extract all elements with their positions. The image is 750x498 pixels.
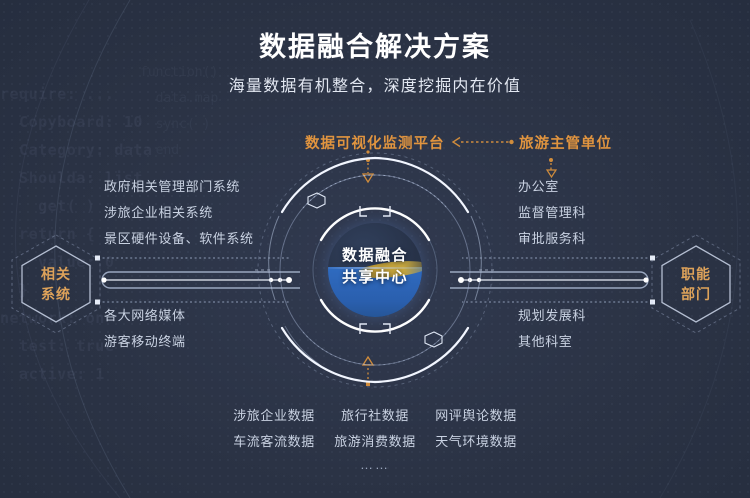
arrow-left-icon	[447, 134, 517, 150]
hexagon-left-label: 相关 系统	[8, 232, 104, 336]
left-top-list: 政府相关管理部门系统 涉旅企业相关系统 景区硬件设备、软件系统	[104, 174, 254, 252]
list-item: 涉旅企业相关系统	[104, 200, 254, 226]
list-item: 政府相关管理部门系统	[104, 174, 254, 200]
label-tourism-authority[interactable]: 旅游主管单位	[519, 132, 612, 153]
right-bottom-list: 规划发展科 其他科室	[518, 303, 586, 355]
hexagon-left-line2: 系统	[41, 284, 71, 304]
list-item: 景区硬件设备、软件系统	[104, 226, 254, 252]
list-item: 各大网络媒体	[104, 303, 186, 329]
center-line1: 数据融合	[255, 245, 495, 267]
page-subtitle: 海量数据有机整合，深度挖掘内在价值	[0, 72, 750, 96]
grid-row: 车流客流数据 旅游消费数据 天气环境数据	[225, 431, 525, 450]
hexagon-related-systems[interactable]: 相关 系统	[8, 232, 104, 336]
bottom-data-grid: 涉旅企业数据 旅行社数据 网评舆论数据 车流客流数据 旅游消费数据 天气环境数据…	[225, 405, 525, 472]
grid-cell: 天气环境数据	[427, 431, 525, 450]
center-label: 数据融合 共享中心	[255, 245, 495, 289]
hexagon-right-label: 职能 部门	[648, 232, 744, 336]
grid-cell: 旅游消费数据	[326, 431, 424, 450]
grid-ellipsis: ……	[225, 457, 525, 472]
right-top-list: 办公室 监督管理科 审批服务科	[518, 174, 586, 252]
hexagon-left-line1: 相关	[41, 264, 71, 284]
data-fusion-center[interactable]: 数据融合 共享中心	[255, 150, 495, 390]
infographic-canvas: require: ... Copyboard: 10 Category: dat…	[0, 0, 750, 498]
grid-row: 涉旅企业数据 旅行社数据 网评舆论数据	[225, 405, 525, 424]
list-item: 审批服务科	[518, 226, 586, 252]
center-line2: 共享中心	[255, 267, 495, 289]
list-item: 办公室	[518, 174, 586, 200]
grid-cell: 车流客流数据	[225, 431, 323, 450]
hexagon-right-line1: 职能	[681, 264, 711, 284]
hexagon-right-line2: 部门	[681, 284, 711, 304]
grid-cell: 涉旅企业数据	[225, 405, 323, 424]
hexagon-functional-departments[interactable]: 职能 部门	[648, 232, 744, 336]
list-item: 规划发展科	[518, 303, 586, 329]
left-bottom-list: 各大网络媒体 游客移动终端	[104, 303, 186, 355]
grid-cell: 旅行社数据	[326, 405, 424, 424]
list-item: 游客移动终端	[104, 329, 186, 355]
list-item: 其他科室	[518, 329, 586, 355]
list-item: 监督管理科	[518, 200, 586, 226]
page-title: 数据融合解决方案	[0, 25, 750, 64]
grid-cell: 网评舆论数据	[427, 405, 525, 424]
